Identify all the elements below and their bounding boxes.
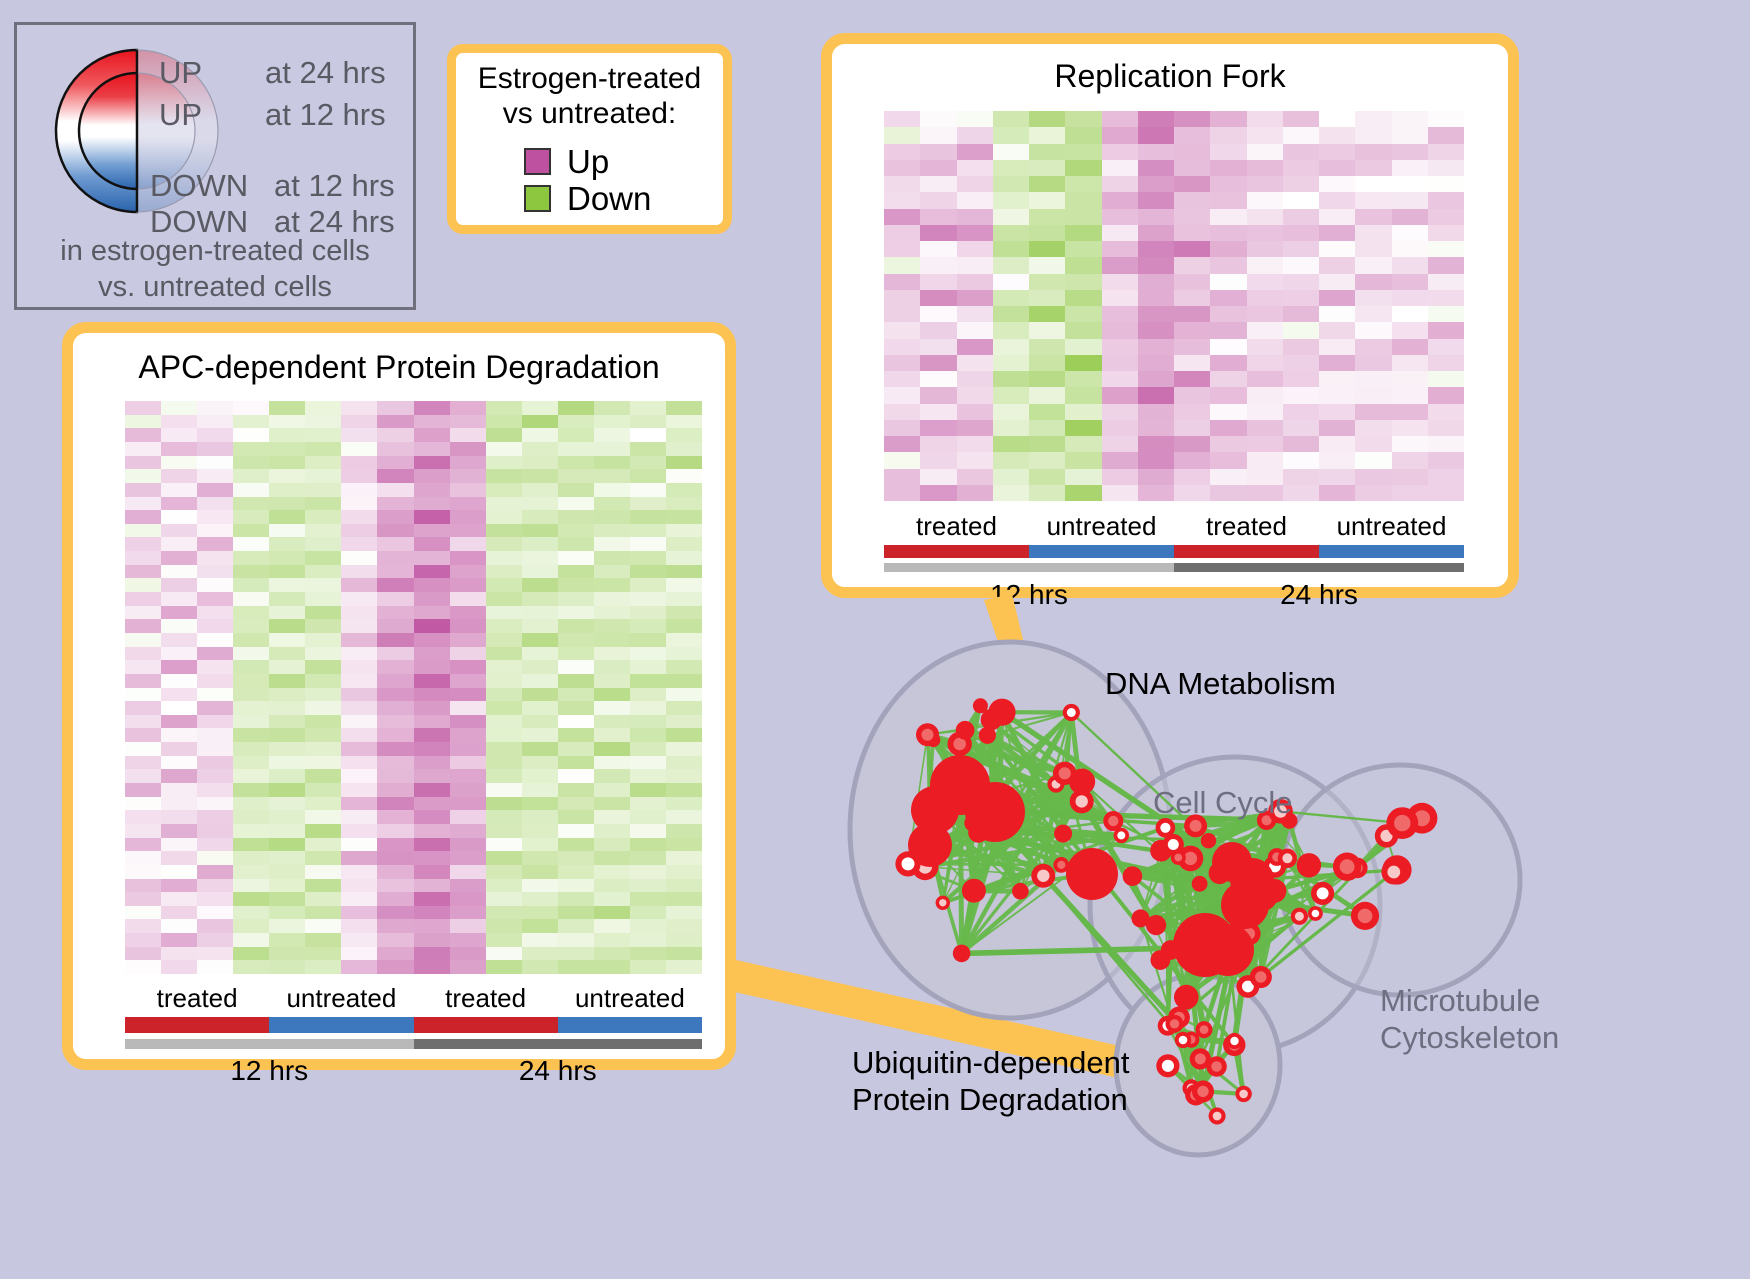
- heatmap-replication-fork: [884, 111, 1464, 501]
- key-caption: in estrogen-treated cells vs. untreated …: [17, 233, 413, 306]
- legend-title-line1: Estrogen-treated: [456, 61, 723, 96]
- legend-items: Up Down: [524, 145, 651, 219]
- cluster-label-dna-metabolism: DNA Metabolism: [1105, 665, 1336, 702]
- legend-label-down: Down: [567, 182, 651, 215]
- key-time: at 12 hrs: [274, 168, 395, 204]
- group-label: treated: [884, 513, 1029, 539]
- group-label: treated: [1174, 513, 1319, 539]
- bar-time-24: [1174, 563, 1464, 572]
- group-label: treated: [125, 985, 269, 1011]
- group-label: untreated: [1029, 513, 1174, 539]
- group-label: treated: [414, 985, 558, 1011]
- panel-apc-degradation: APC-dependent Protein Degradation treate…: [62, 322, 736, 1070]
- time-label-24: 24 hrs: [414, 1057, 703, 1085]
- column-group-labels-replication-fork: treated untreated treated untreated: [884, 513, 1464, 539]
- legend-title-line2: vs untreated:: [456, 96, 723, 131]
- panel-title-apc: APC-dependent Protein Degradation: [73, 349, 725, 386]
- group-label: untreated: [269, 985, 413, 1011]
- bar-treated-24: [1174, 545, 1319, 558]
- treatment-bar-apc: [125, 1017, 702, 1033]
- bar-time-12: [884, 563, 1174, 572]
- time-bar-apc: [125, 1039, 702, 1049]
- key-caption-line2: vs. untreated cells: [17, 269, 413, 305]
- legend-swatch-down: [524, 185, 551, 212]
- time-bar-replication-fork: [884, 563, 1464, 572]
- group-label: untreated: [558, 985, 702, 1011]
- cluster-label-cell-cycle: Cell Cycle: [1153, 784, 1293, 821]
- heatmap-apc-degradation: [125, 401, 702, 974]
- time-label-24: 24 hrs: [1174, 581, 1464, 609]
- bar-treated-24: [414, 1017, 558, 1033]
- arrow-to-dna-metabolism: [984, 594, 1103, 905]
- column-group-labels-apc: treated untreated treated untreated: [125, 985, 702, 1011]
- cluster-label-ubiquitin-degradation: Ubiquitin-dependent Protein Degradation: [852, 1044, 1130, 1118]
- panel-replication-fork: Replication Fork treated untreated treat…: [821, 33, 1519, 598]
- up-down-legend-box: Estrogen-treated vs untreated: Up Down: [447, 44, 732, 234]
- time-label-12: 12 hrs: [125, 1057, 414, 1085]
- legend-title: Estrogen-treated vs untreated:: [456, 61, 723, 132]
- group-label: untreated: [1319, 513, 1464, 539]
- time-labels-apc: 12 hrs 24 hrs: [125, 1057, 702, 1085]
- key-direction: UP: [159, 55, 265, 91]
- time-label-12: 12 hrs: [884, 581, 1174, 609]
- legend-label-up: Up: [567, 145, 609, 178]
- treatment-bar-replication-fork: [884, 545, 1464, 558]
- key-time: at 12 hrs: [265, 97, 386, 133]
- key-time: at 24 hrs: [265, 55, 386, 91]
- key-caption-line1: in estrogen-treated cells: [17, 233, 413, 269]
- expression-key-box: UP at 24 hrs UP at 12 hrs DOWN at 12 hrs…: [14, 22, 416, 310]
- key-row-up-12: UP at 12 hrs: [159, 97, 386, 133]
- bar-untreated-24: [1319, 545, 1464, 558]
- figure-root: UP at 24 hrs UP at 12 hrs DOWN at 12 hrs…: [0, 0, 1750, 1279]
- legend-item-down: Down: [524, 182, 651, 215]
- bar-treated-12: [884, 545, 1029, 558]
- key-row-up-24: UP at 24 hrs: [159, 55, 386, 91]
- bar-time-24: [414, 1039, 703, 1049]
- bar-untreated-12: [1029, 545, 1174, 558]
- bar-time-12: [125, 1039, 414, 1049]
- time-labels-replication-fork: 12 hrs 24 hrs: [884, 581, 1464, 609]
- legend-item-up: Up: [524, 145, 651, 178]
- key-direction: UP: [159, 97, 265, 133]
- panel-title-replication-fork: Replication Fork: [832, 58, 1508, 95]
- key-row-down-12: DOWN at 12 hrs: [150, 168, 395, 204]
- bar-untreated-24: [558, 1017, 702, 1033]
- key-direction: DOWN: [150, 168, 274, 204]
- legend-swatch-up: [524, 148, 551, 175]
- bar-treated-12: [125, 1017, 269, 1033]
- bar-untreated-12: [269, 1017, 413, 1033]
- cluster-label-microtubule-cytoskeleton: Microtubule Cytoskeleton: [1380, 982, 1559, 1056]
